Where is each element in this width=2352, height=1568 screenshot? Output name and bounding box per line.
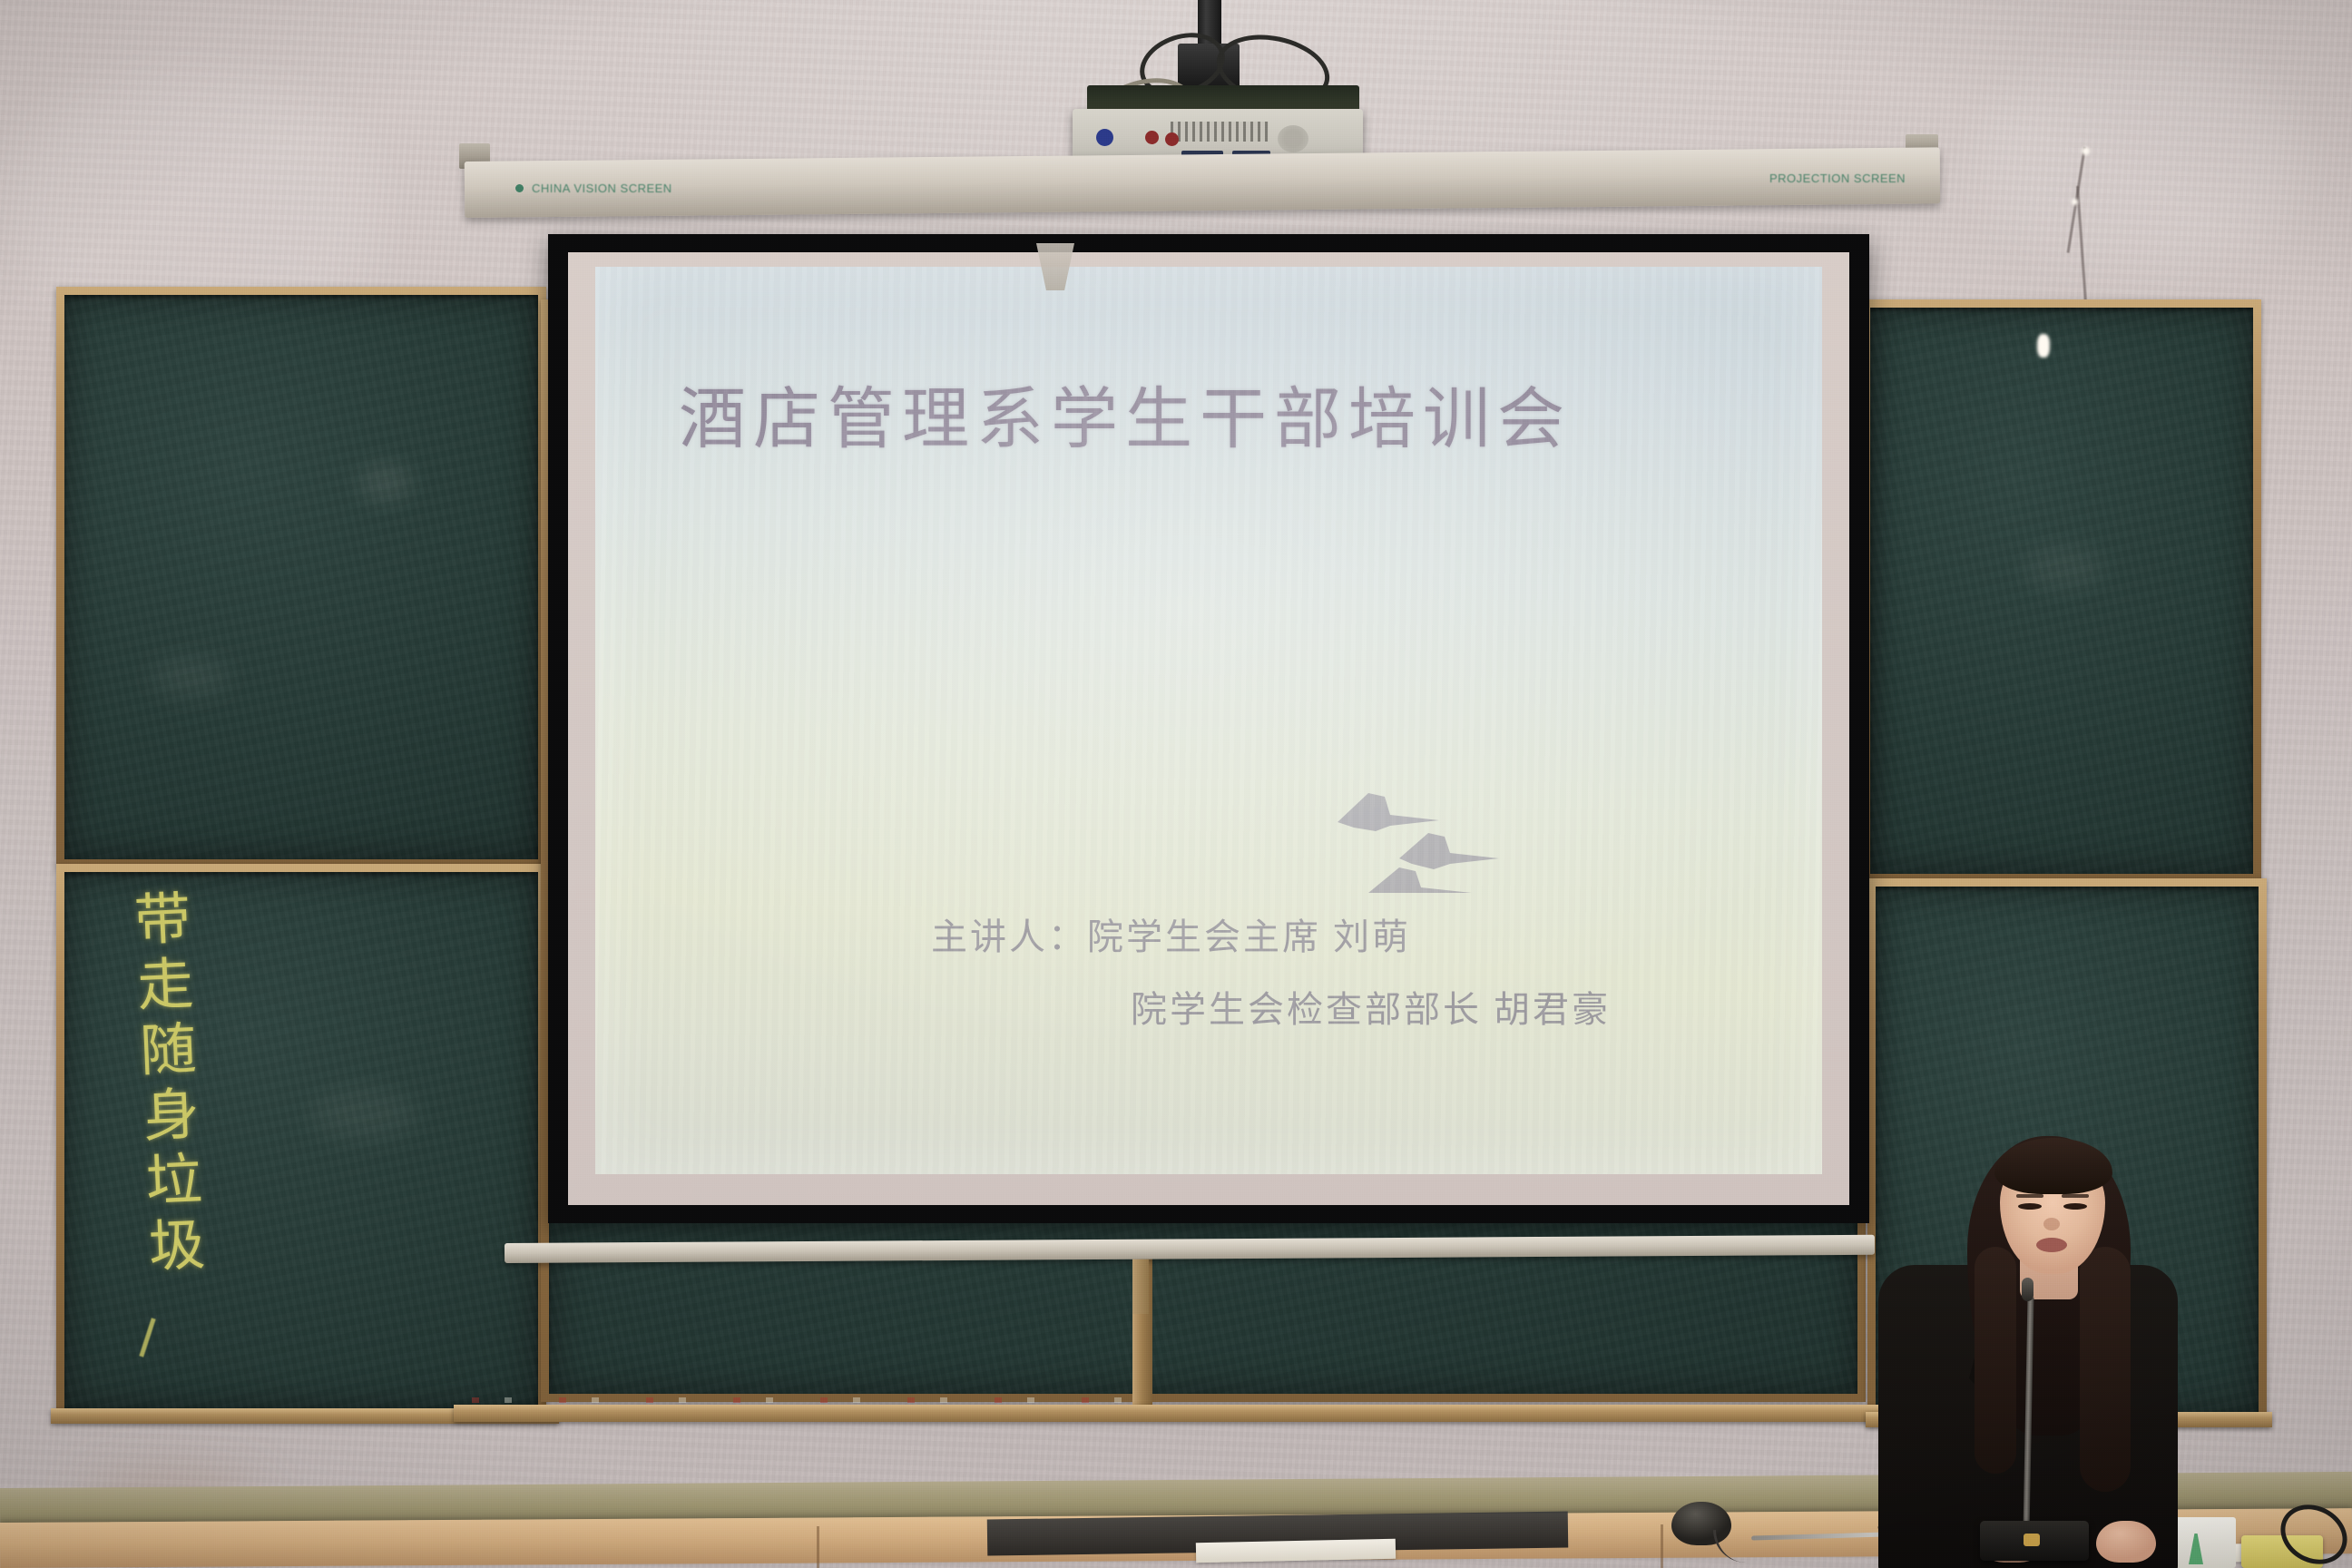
projector-connector xyxy=(1145,131,1159,144)
roller-brand-dot xyxy=(515,184,524,192)
chalkboard-left-upper xyxy=(56,287,546,867)
chalk-smudge xyxy=(150,656,231,698)
projector-vent xyxy=(1171,122,1269,142)
classroom-photo-scene: 带走随身垃圾 CHINA VISION SCREEN PROJECTION SC… xyxy=(0,0,2352,1568)
microphone-base-indicator xyxy=(2024,1534,2040,1546)
slide-subtitle-line-2: 院学生会检查部部长 胡君豪 xyxy=(1131,980,1611,1033)
presenter-hair-strand xyxy=(2080,1247,2131,1492)
paper-documents[interactable] xyxy=(1196,1539,1396,1563)
cable-glint xyxy=(2072,199,2078,205)
slide-subtitle-line-1: 主讲人：院学生会主席 刘萌 xyxy=(931,907,1411,960)
presenter-hand-right xyxy=(2096,1521,2156,1563)
slide-title: 酒店管理系学生干部培训会 xyxy=(679,365,1572,462)
roller-brand-left-label: CHINA VISION SCREEN xyxy=(532,181,672,195)
cable-glint xyxy=(2082,147,2090,155)
projector-speaker-grille xyxy=(1278,125,1308,152)
presenter-eyebrow-left xyxy=(2016,1194,2043,1198)
chalk-tray-center xyxy=(454,1405,2051,1422)
presenter-hair-strand xyxy=(1975,1247,2016,1474)
chalkboard-glint xyxy=(2037,334,2050,358)
presenter-eye-left xyxy=(2018,1203,2042,1210)
presenter-figure xyxy=(1869,1111,2250,1568)
projector-connector xyxy=(1096,129,1113,146)
chalk-smudge xyxy=(2024,545,2105,591)
presenter-eye-right xyxy=(2063,1203,2087,1210)
projector-connector xyxy=(1165,132,1179,146)
chalk-smudge xyxy=(310,1087,419,1142)
presenter-mouth xyxy=(2036,1238,2067,1252)
chalkboard-surface xyxy=(64,295,538,859)
flying-cranes-graphic xyxy=(1312,775,1512,893)
desk-panel-seam xyxy=(1661,1524,1663,1568)
desk-panel-seam xyxy=(817,1526,819,1568)
microphone-head xyxy=(2022,1278,2033,1301)
chalkboard-surface xyxy=(1870,308,2253,874)
chalkboard-right-upper xyxy=(1862,299,2261,882)
chalk-smudge xyxy=(358,465,413,501)
presenter-nose xyxy=(2043,1218,2060,1230)
chalk-dust-residue xyxy=(459,1397,1131,1403)
projected-slide-area: 酒店管理系学生干部培训会 主讲人：院学生会主席 刘萌 院学生会检查部部长 胡君豪 xyxy=(595,267,1822,1174)
presenter-eyebrow-right xyxy=(2062,1194,2089,1198)
roller-brand-right-label: PROJECTION SCREEN xyxy=(1769,171,1906,185)
wall-stain xyxy=(1978,54,2305,272)
screen-bar-drop xyxy=(1132,1259,1149,1314)
